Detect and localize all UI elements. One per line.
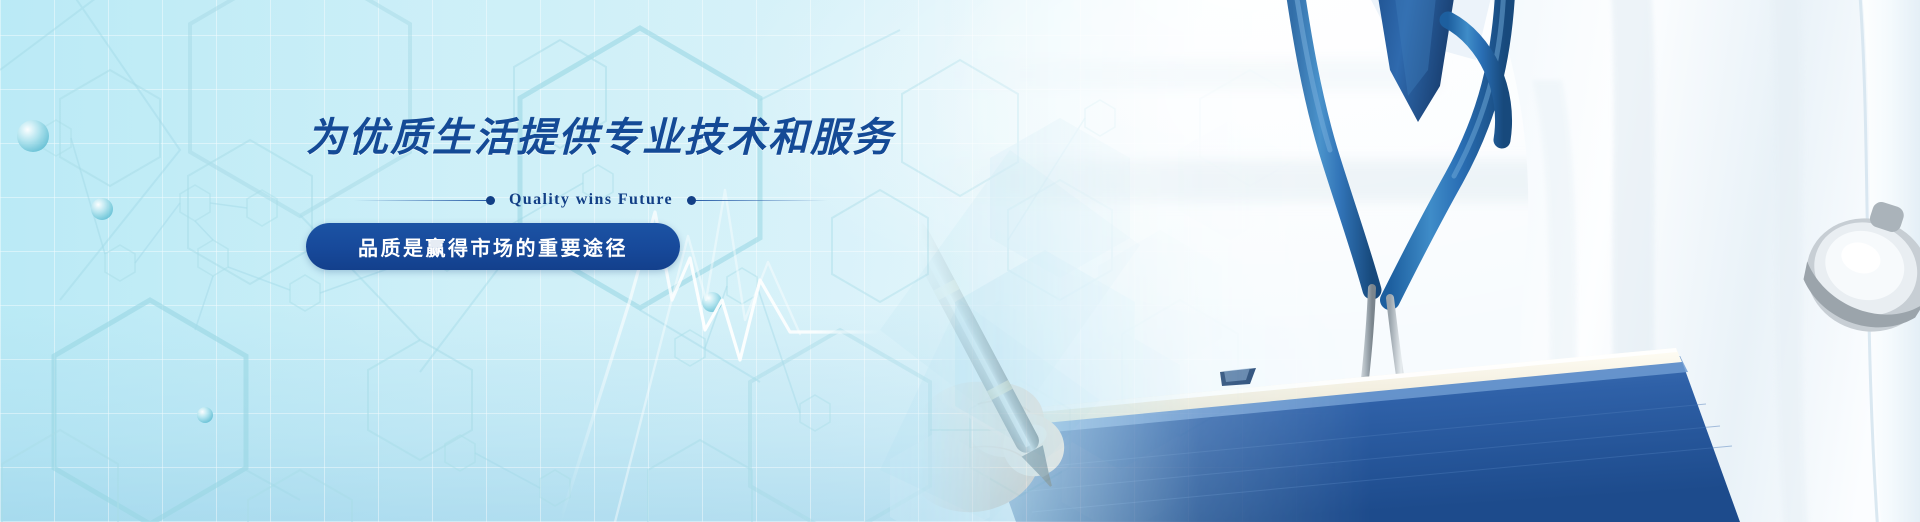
hero-banner: 为优质生活提供专业技术和服务 Quality wins Future 品质是赢得… [0, 0, 1920, 522]
tagline-pill[interactable]: 品质是赢得市场的重要途径 [306, 223, 680, 270]
tagline-pill-label: 品质是赢得市场的重要途径 [358, 232, 628, 261]
subtitle-right-dot [687, 196, 696, 205]
banner-content: 为优质生活提供专业技术和服务 Quality wins Future 品质是赢得… [306, 118, 1066, 270]
subtitle-left-dot [486, 196, 495, 205]
subtitle-left-rule [354, 200, 486, 201]
banner-headline: 为优质生活提供专业技术和服务 [306, 118, 1066, 158]
doctor-photo [920, 0, 1920, 522]
subtitle-row: Quality wins Future [354, 191, 828, 209]
subtitle-right-rule [696, 200, 828, 201]
banner-subtitle-en: Quality wins Future [495, 191, 687, 209]
